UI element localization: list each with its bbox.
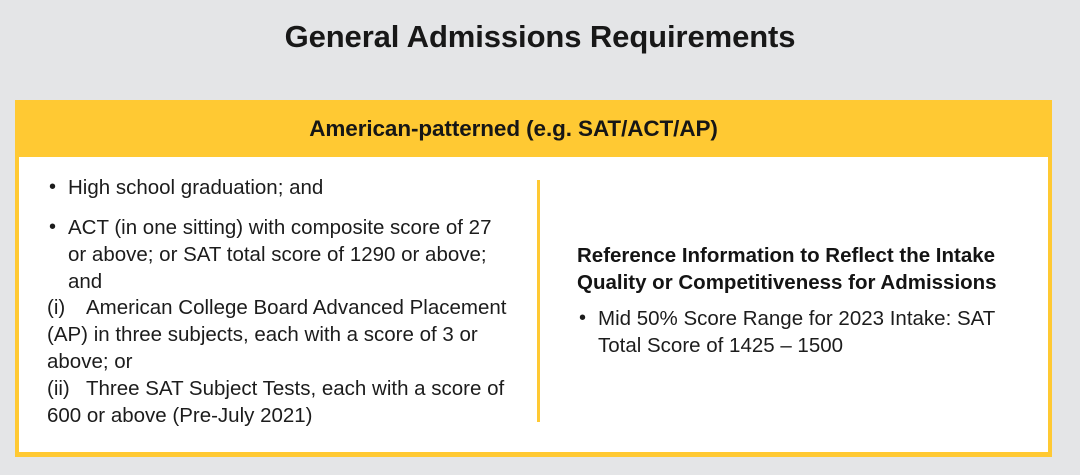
sub-item-i-text: American College Board Advanced Placemen…	[47, 296, 507, 373]
card-header: American-patterned (e.g. SAT/ACT/AP)	[15, 100, 1052, 157]
list-item: Mid 50% Score Range for 2023 Intake: SAT…	[577, 306, 1018, 360]
sub-item-ii: (ii)Three SAT Subject Tests, each with a…	[47, 376, 513, 430]
left-column: High school graduation; and ACT (in one …	[19, 157, 537, 452]
right-column: Reference Information to Reflect the Int…	[537, 157, 1048, 452]
left-column-bullet-list: High school graduation; and ACT (in one …	[47, 175, 513, 430]
list-item: ACT (in one sitting) with composite scor…	[47, 215, 513, 430]
list-item-text: ACT (in one sitting) with composite scor…	[68, 216, 491, 293]
card-body: High school graduation; and ACT (in one …	[15, 157, 1052, 457]
right-column-bullet-list: Mid 50% Score Range for 2023 Intake: SAT…	[577, 306, 1018, 360]
page-root: General Admissions Requirements American…	[0, 0, 1080, 475]
sub-item-ii-marker: (ii)	[47, 376, 86, 403]
sub-item-ii-text: Three SAT Subject Tests, each with a sco…	[47, 377, 504, 427]
card-header-title: American-patterned (e.g. SAT/ACT/AP)	[309, 116, 718, 142]
requirements-card: American-patterned (e.g. SAT/ACT/AP) Hig…	[15, 100, 1052, 457]
list-item: High school graduation; and	[47, 175, 513, 202]
sub-item-i-marker: (i)	[47, 295, 86, 322]
column-divider	[537, 180, 540, 422]
page-title: General Admissions Requirements	[0, 18, 1080, 55]
sub-item-i: (i)American College Board Advanced Place…	[47, 295, 513, 376]
reference-information-heading: Reference Information to Reflect the Int…	[577, 242, 1018, 296]
